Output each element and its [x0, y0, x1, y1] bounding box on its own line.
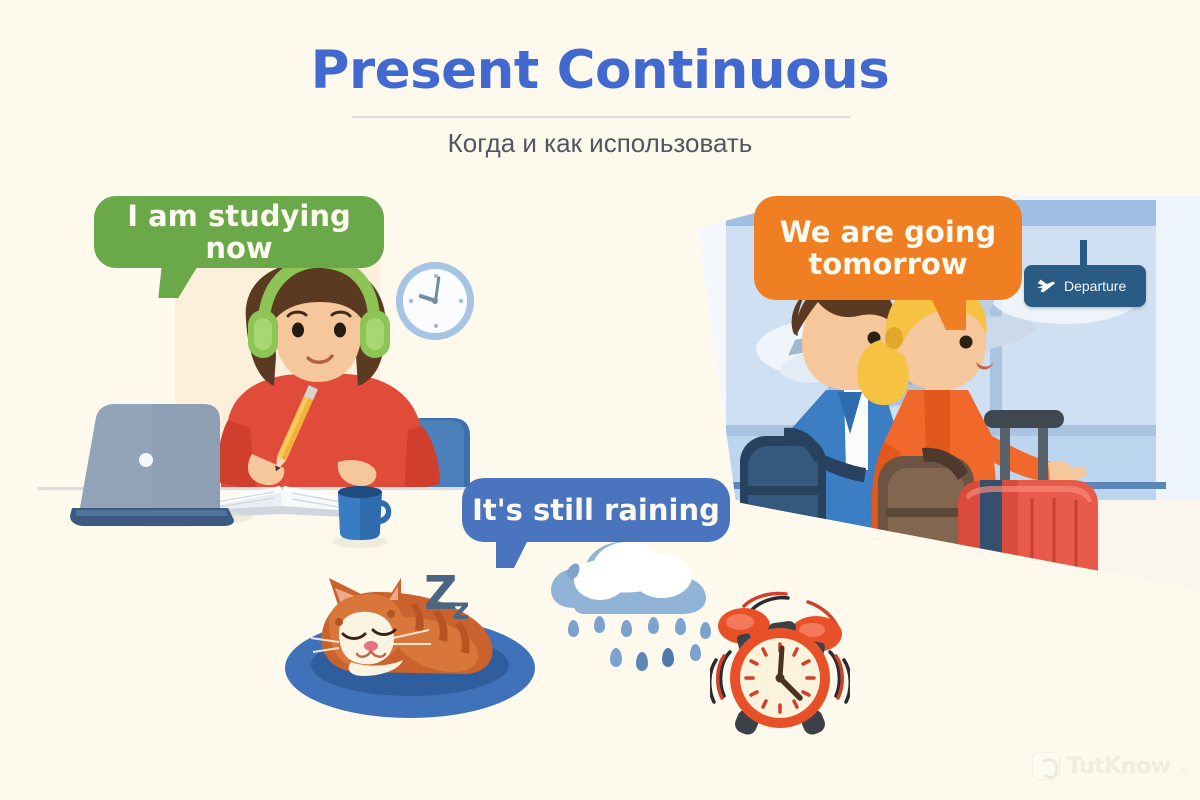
tutknow-logo-icon	[1032, 752, 1060, 780]
laptop[interactable]	[62, 400, 262, 530]
sleep-z-small: z	[452, 592, 469, 627]
watermark-tld: .ru	[1177, 765, 1190, 780]
speech-bubble-travel-text: We are going tomorrow	[780, 216, 996, 281]
raindrop	[621, 620, 632, 637]
speech-bubble-raining[interactable]: It's still raining	[462, 478, 730, 542]
raindrop	[690, 644, 701, 661]
watermark-text: TutKnow	[1067, 754, 1170, 779]
rain-cloud	[548, 534, 728, 624]
speech-bubble-raining-text: It's still raining	[472, 494, 720, 526]
cat-sleeping	[305, 578, 535, 693]
raindrop	[662, 648, 674, 667]
speech-bubble-tail	[496, 540, 528, 568]
speech-bubble-travel-line1: We are going	[780, 215, 996, 249]
title-divider	[352, 116, 850, 118]
page-title: Present Continuous	[0, 40, 1200, 101]
raindrop	[610, 648, 622, 667]
infographic-canvas: Present Continuous Когда и как использов…	[0, 0, 1200, 800]
raindrop	[648, 617, 659, 634]
suitcase	[922, 410, 1122, 610]
speech-bubble-travel[interactable]: We are going tomorrow	[754, 196, 1022, 300]
page-subtitle: Когда и как использовать	[0, 128, 1200, 159]
raindrop	[568, 620, 579, 637]
speech-bubble-studying-text: I am studying now	[94, 200, 384, 265]
raindrop	[675, 618, 686, 635]
speech-bubble-travel-line2: tomorrow	[808, 247, 967, 281]
raindrop	[636, 652, 648, 671]
coffee-mug	[330, 480, 400, 550]
speech-bubble-tail	[158, 266, 197, 298]
raindrop	[594, 616, 605, 633]
speech-bubble-studying[interactable]: I am studying now	[94, 196, 384, 268]
alarm-clock	[710, 590, 850, 740]
watermark: TutKnow .ru	[1032, 752, 1190, 780]
speech-bubble-tail	[930, 296, 966, 330]
